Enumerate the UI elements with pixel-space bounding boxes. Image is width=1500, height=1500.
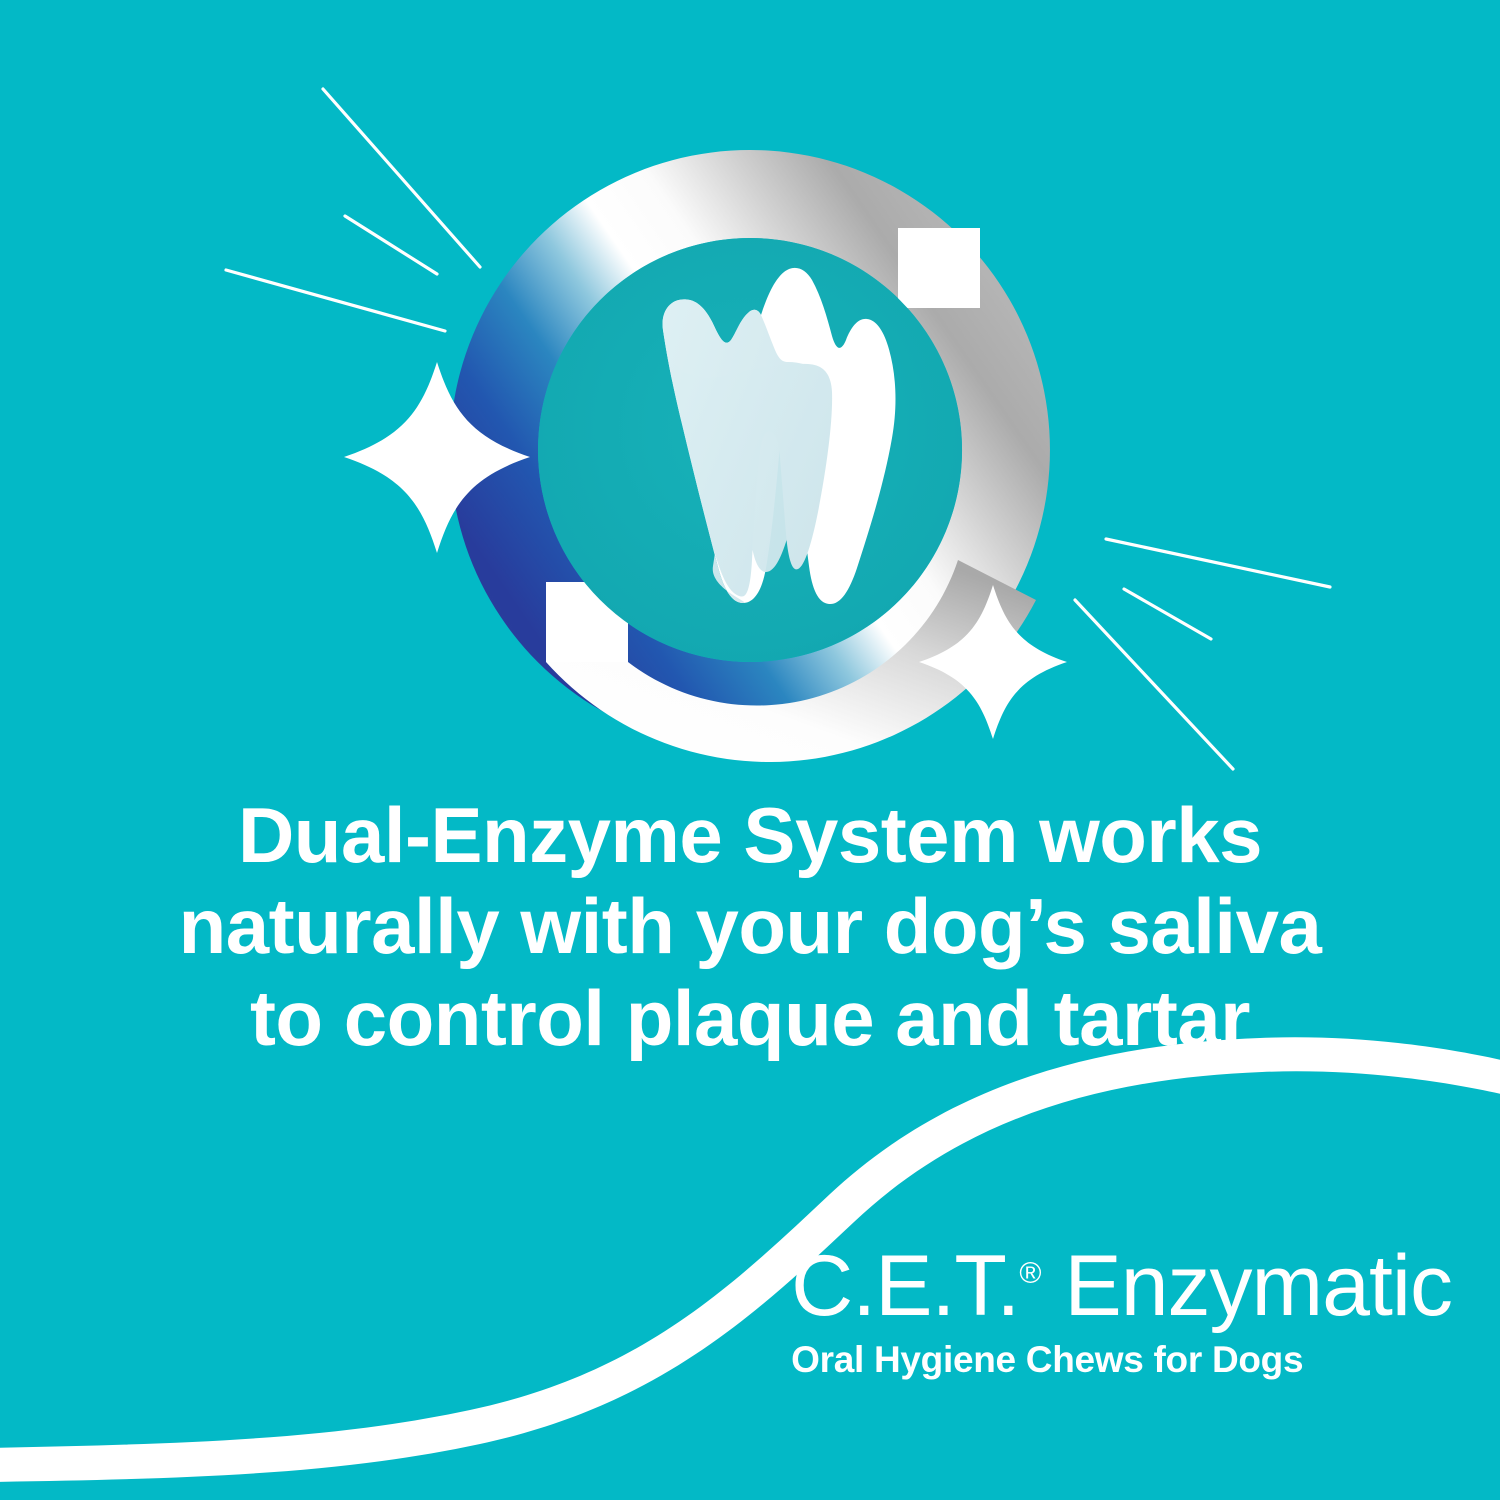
shine-line-icon (226, 89, 480, 331)
headline-line-1: Dual-Enzyme System works (0, 790, 1500, 881)
brand-name: C.E.T.® Enzymatic (791, 1243, 1452, 1329)
brand-lockup: C.E.T.® Enzymatic Oral Hygiene Chews for… (791, 1243, 1452, 1380)
brand-name-suffix: Enzymatic (1041, 1238, 1452, 1334)
hero-illustration (0, 0, 1500, 800)
brand-tagline: Oral Hygiene Chews for Dogs (791, 1341, 1452, 1380)
shine-line-icon (1075, 539, 1330, 769)
ad-canvas: Dual-Enzyme System works naturally with … (0, 0, 1500, 1500)
headline-line-2: naturally with your dog’s saliva (0, 881, 1500, 972)
registered-mark-icon: ® (1019, 1257, 1041, 1290)
ring-notch-top-right (898, 228, 980, 308)
brand-name-prefix: C.E.T. (791, 1238, 1019, 1334)
